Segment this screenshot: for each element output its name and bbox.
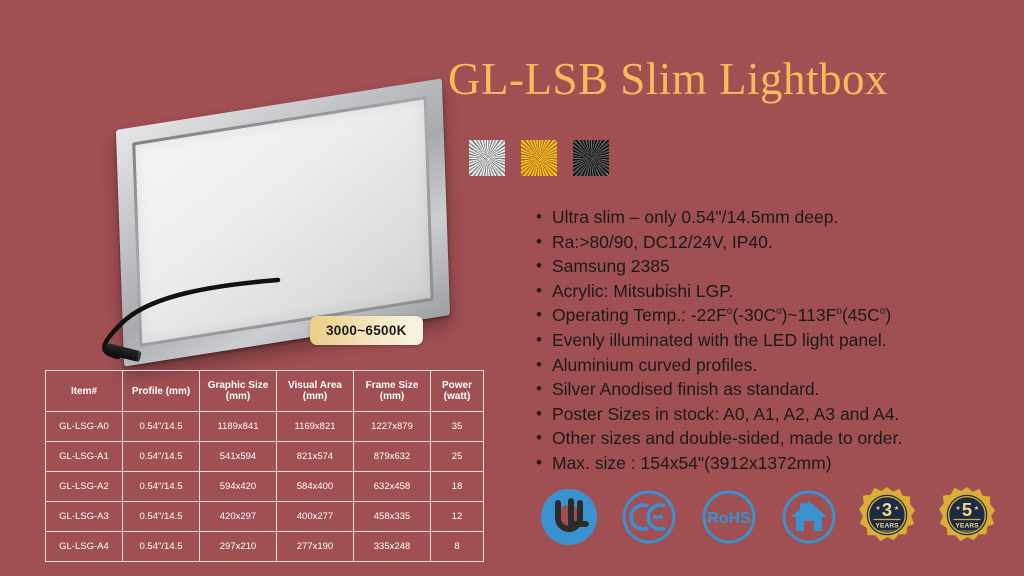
column-header-graphic-size: Graphic Size (mm) [200,371,277,412]
rohs-certification-icon: RoHS [698,486,760,548]
table-row: GL-LSG-A2 0.54"/14.5 594x420 584x400 632… [46,472,484,502]
list-item: Ultra slim – only 0.54"/14.5mm deep. [552,205,1022,230]
cell-item: GL-LSG-A2 [46,472,123,502]
black-finish-swatch[interactable] [573,140,609,176]
list-item: Evenly illuminated with the LED light pa… [552,328,1022,353]
5-year-warranty-badge: 5 YEARS WARRANTY ★ ★ [938,486,1000,548]
list-item: Samsung 2385 [552,254,1022,279]
header-line-1: Profile (mm) [123,386,199,397]
header-line-1: Graphic Size [200,380,276,391]
cell-graphic-size: 420x297 [200,502,277,532]
feature-list: Ultra slim – only 0.54"/14.5mm deep. Ra:… [534,205,1022,476]
cell-frame-size: 879x632 [354,442,431,472]
column-header-frame-size: Frame Size (mm) [354,371,431,412]
list-item: Acrylic: Mitsubishi LGP. [552,279,1022,304]
list-item: Silver Anodised finish as standard. [552,377,1022,402]
list-item: Aluminium curved profiles. [552,353,1022,378]
list-item: Operating Temp.: -22Fo(-30Co)~113Fo(45Co… [552,303,1022,328]
header-line-2: (mm) [354,391,430,402]
list-item: Max. size : 154x54"(3912x1372mm) [552,451,1022,476]
table-row: GL-LSG-A3 0.54"/14.5 420x297 400x277 458… [46,502,484,532]
header-line-1: Frame Size [354,380,430,391]
color-temperature-badge: 3000~6500K [310,316,423,345]
cell-item: GL-LSG-A4 [46,532,123,562]
cell-graphic-size: 297x210 [200,532,277,562]
warranty-sublabel: WARRANTY [958,529,977,533]
cell-profile: 0.54"/14.5 [123,472,200,502]
specification-table: Item# Profile (mm) Graphic Size (mm) Vis… [45,370,484,562]
finish-swatch-group [469,140,609,176]
header-line-1: Item# [46,386,122,397]
header-line-1: Visual Area [277,380,353,391]
cell-visual-area: 584x400 [277,472,354,502]
3-year-warranty-badge: 3 YEARS WARRANTY ★ ★ [858,486,920,548]
cell-visual-area: 821x574 [277,442,354,472]
column-header-profile: Profile (mm) [123,371,200,412]
table-row: GL-LSG-A4 0.54"/14.5 297x210 277x190 335… [46,532,484,562]
ce-certification-icon [618,486,680,548]
cell-profile: 0.54"/14.5 [123,532,200,562]
cell-profile: 0.54"/14.5 [123,442,200,472]
indoor-use-icon [778,486,840,548]
cell-power: 12 [431,502,484,532]
cell-item: GL-LSG-A0 [46,412,123,442]
cell-visual-area: 1169x821 [277,412,354,442]
cell-power: 35 [431,412,484,442]
warranty-years: 3 [882,499,892,520]
silver-finish-swatch[interactable] [469,140,505,176]
slide-canvas: GL-LSB Slim Lightbox Ultra slim – only 0… [0,0,1024,576]
cell-visual-area: 277x190 [277,532,354,562]
cell-graphic-size: 594x420 [200,472,277,502]
header-line-1: Power [431,380,483,391]
table-header-row: Item# Profile (mm) Graphic Size (mm) Vis… [46,371,484,412]
page-title: GL-LSB Slim Lightbox [448,56,888,103]
cell-frame-size: 632x458 [354,472,431,502]
warranty-sublabel: WARRANTY [878,529,897,533]
gold-finish-swatch[interactable] [521,140,557,176]
star-icon: ★ [974,505,979,512]
cell-visual-area: 400x277 [277,502,354,532]
header-line-2: (mm) [277,391,353,402]
star-icon: ★ [955,505,960,512]
cell-power: 8 [431,532,484,562]
cell-item: GL-LSG-A3 [46,502,123,532]
star-icon: ★ [875,505,880,512]
cell-power: 25 [431,442,484,472]
header-line-2: (watt) [431,391,483,402]
list-item: Poster Sizes in stock: A0, A1, A2, A3 an… [552,402,1022,427]
list-item: Other sizes and double-sided, made to or… [552,426,1022,451]
cell-frame-size: 1227x879 [354,412,431,442]
rohs-label: RoHS [707,510,751,527]
column-header-power: Power (watt) [431,371,484,412]
list-item: Ra:>80/90, DC12/24V, IP40. [552,230,1022,255]
warranty-years: 5 [962,499,972,520]
table-row: GL-LSG-A1 0.54"/14.5 541x594 821x574 879… [46,442,484,472]
star-icon: ★ [894,505,899,512]
certification-badge-group: RoHS 3 YEARS WARRANTY ★ ★ [538,486,1000,548]
column-header-visual-area: Visual Area (mm) [277,371,354,412]
ul-certification-icon [538,486,600,548]
cell-item: GL-LSG-A1 [46,442,123,472]
cell-graphic-size: 541x594 [200,442,277,472]
table-row: GL-LSG-A0 0.54"/14.5 1189x841 1169x821 1… [46,412,484,442]
cell-power: 18 [431,472,484,502]
cell-profile: 0.54"/14.5 [123,412,200,442]
header-line-2: (mm) [200,391,276,402]
cell-frame-size: 458x335 [354,502,431,532]
cell-frame-size: 335x248 [354,532,431,562]
cell-graphic-size: 1189x841 [200,412,277,442]
cell-profile: 0.54"/14.5 [123,502,200,532]
column-header-item: Item# [46,371,123,412]
